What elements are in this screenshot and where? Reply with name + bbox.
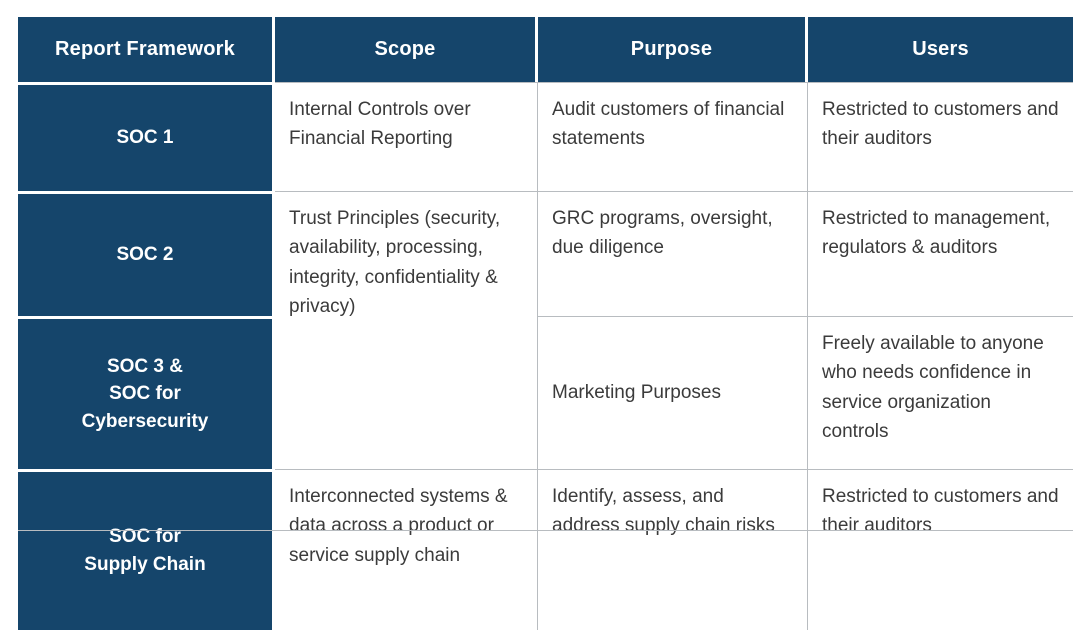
row-label-soc-1: SOC 1	[18, 82, 275, 191]
cell-users-soc-1: Restricted to customers and their audito…	[808, 82, 1073, 191]
cell-purpose-soc-2: GRC programs, oversight, due diligence	[538, 191, 808, 316]
table-row-soc-2: SOC 2 Trust Principles (security, availa…	[18, 191, 1073, 316]
column-header-users: Users	[808, 17, 1073, 82]
column-header-scope: Scope	[275, 17, 538, 82]
table-header: Report Framework Scope Purpose Users	[18, 17, 1073, 82]
table-row-soc-supply-chain: SOC for Supply Chain Interconnected syst…	[18, 469, 1073, 630]
cell-purpose-soc-3: Marketing Purposes	[538, 316, 808, 469]
column-header-purpose: Purpose	[538, 17, 808, 82]
row-label-line-2: Supply Chain	[84, 554, 205, 575]
cell-scope-soc-2-merged: Trust Principles (security, availability…	[275, 191, 538, 469]
header-row: Report Framework Scope Purpose Users	[18, 17, 1073, 82]
table-row-soc-3-cybersecurity: SOC 3 & SOC for Cybersecurity Marketing …	[18, 316, 1073, 469]
comparison-table: Report Framework Scope Purpose Users SOC…	[18, 17, 1073, 630]
soc-report-framework-table: Report Framework Scope Purpose Users SOC…	[18, 17, 1073, 530]
table-body: SOC 1 Internal Controls over Financial R…	[18, 82, 1073, 630]
cell-purpose-soc-1: Audit customers of financial statements	[538, 82, 808, 191]
cell-scope-soc-supply-chain: Interconnected systems & data across a p…	[275, 469, 538, 630]
column-header-report-framework: Report Framework	[18, 17, 275, 82]
table-bottom-rule	[18, 530, 1073, 531]
row-label-line-1: SOC 3 &	[107, 356, 183, 377]
cell-purpose-soc-supply-chain: Identify, assess, and address supply cha…	[538, 469, 808, 630]
row-label-soc-3-cybersecurity: SOC 3 & SOC for Cybersecurity	[18, 316, 275, 469]
row-label-soc-supply-chain: SOC for Supply Chain	[18, 469, 275, 630]
row-label-soc-2: SOC 2	[18, 191, 275, 316]
cell-users-soc-supply-chain: Restricted to customers and their audito…	[808, 469, 1073, 630]
row-label-line-3: Cybersecurity	[82, 411, 209, 432]
table-row-soc-1: SOC 1 Internal Controls over Financial R…	[18, 82, 1073, 191]
cell-users-soc-2: Restricted to management, regulators & a…	[808, 191, 1073, 316]
cell-scope-soc-1: Internal Controls over Financial Reporti…	[275, 82, 538, 191]
row-label-line-2: SOC for	[109, 383, 181, 404]
cell-users-soc-3: Freely available to anyone who needs con…	[808, 316, 1073, 469]
